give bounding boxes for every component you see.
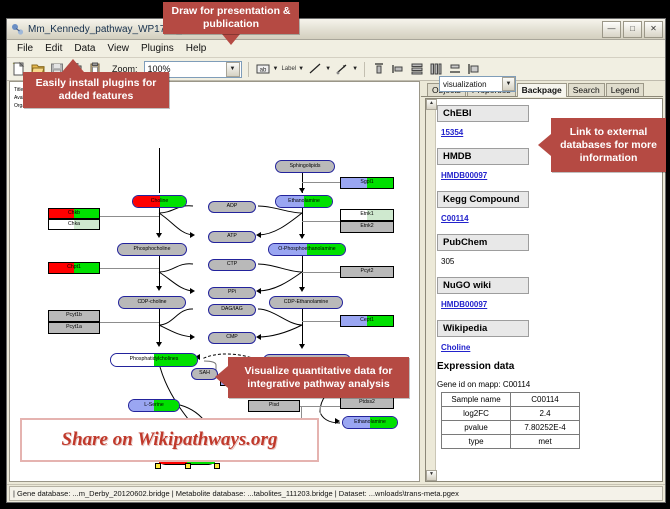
- node-label: CDP-choline: [137, 300, 166, 305]
- edge-arrow: [256, 232, 261, 238]
- db-section-wikipedia: Wikipedia Choline: [437, 318, 660, 355]
- node-cdp-ethanolamine[interactable]: CDP-Ethanolamine: [269, 296, 343, 309]
- backpage-scrollbar[interactable]: ▲ ▼: [426, 99, 436, 481]
- table-row: Sample name C00114: [442, 393, 580, 407]
- node-label: Ethanolamine: [354, 420, 386, 425]
- db-header-wikipedia: Wikipedia: [437, 320, 529, 337]
- expr-key: log2FC: [442, 407, 511, 421]
- db-section-kegg: Kegg Compound C00114: [437, 189, 660, 226]
- node-ctp[interactable]: CTP: [208, 259, 256, 271]
- pathvisio-icon: [11, 23, 24, 36]
- node-label: Etnk2: [360, 224, 373, 229]
- node-pisd[interactable]: Pisd: [248, 400, 300, 412]
- node-sgpl1[interactable]: Sgpl1: [340, 177, 394, 189]
- node-label: Pisd: [269, 403, 279, 408]
- scroll-up-icon[interactable]: ▲: [426, 99, 437, 110]
- align-top-icon[interactable]: [371, 61, 387, 77]
- node-label: Phosphatidylcholines: [130, 357, 179, 362]
- node-atp[interactable]: ATP: [208, 231, 256, 243]
- node-label: CMP: [226, 335, 238, 340]
- menu-file[interactable]: File: [11, 42, 39, 55]
- node-label: ADP: [227, 204, 238, 209]
- node-sah[interactable]: SAH: [191, 368, 218, 380]
- edge-arrow: [190, 334, 195, 340]
- edge-arrow: [190, 232, 195, 238]
- node-label: Chka: [68, 222, 80, 227]
- node-ethanolamine-bottom[interactable]: Ethanolamine: [342, 416, 398, 429]
- db-link-kegg[interactable]: C00114: [441, 214, 469, 223]
- node-label: SAH: [199, 371, 210, 376]
- maximize-button[interactable]: □: [623, 21, 642, 38]
- tab-legend[interactable]: Legend: [606, 83, 644, 96]
- edge-arrow: [256, 334, 261, 340]
- node-l-serine-left[interactable]: L-Serine: [128, 399, 180, 412]
- tab-search[interactable]: Search: [568, 83, 605, 96]
- callout-links-pointer: [538, 134, 551, 156]
- node-label: Choline: [151, 199, 169, 204]
- node-label: Pcyt2: [361, 269, 374, 274]
- align-rows-icon[interactable]: [409, 61, 425, 77]
- db-header-hmdb: HMDB: [437, 148, 529, 165]
- node-label: L-Serine: [144, 403, 164, 408]
- align-columns-icon[interactable]: [428, 61, 444, 77]
- selection-handle[interactable]: [155, 463, 161, 469]
- node-cmp[interactable]: CMP: [208, 332, 256, 344]
- node-label: Pcyt1a: [66, 325, 82, 330]
- catalysis-line: [302, 321, 340, 322]
- selection-handle[interactable]: [185, 463, 191, 469]
- node-label: Sgpl1: [360, 180, 373, 185]
- db-link-chebi[interactable]: 15354: [441, 128, 463, 137]
- line-dropdown-icon[interactable]: ▼: [325, 66, 331, 72]
- node-ptdss2[interactable]: Ptdss2: [340, 397, 394, 409]
- expr-key: pvalue: [442, 421, 511, 435]
- toolbar-separator: [248, 62, 249, 77]
- status-bar: | Gene database: ...m_Derby_20120602.bri…: [7, 484, 665, 502]
- node-label: Pcyt1b: [66, 313, 82, 318]
- selection-handle[interactable]: [214, 463, 220, 469]
- interaction-dropdown-icon[interactable]: ▼: [352, 66, 358, 72]
- node-label: O-Phosphoethanolamine: [278, 247, 335, 252]
- db-header-chebi: ChEBI: [437, 105, 529, 122]
- expr-value: 2.4: [511, 407, 580, 421]
- node-label: Phosphocholine: [134, 247, 171, 252]
- db-header-kegg: Kegg Compound: [437, 191, 529, 208]
- interaction-icon[interactable]: [334, 61, 350, 77]
- chevron-down-icon[interactable]: ▼: [502, 77, 515, 91]
- menu-bar: File Edit Data View Plugins Help: [7, 40, 665, 58]
- expr-key: Sample name: [442, 393, 511, 407]
- node-chka[interactable]: Chka: [48, 219, 100, 230]
- node-label: CTP: [227, 262, 237, 267]
- node-pcyt2[interactable]: Pcyt2: [340, 266, 394, 278]
- node-dagdag[interactable]: DAG/IAG: [208, 304, 256, 316]
- node-label: Cept1: [360, 318, 374, 323]
- node-label: Ethanolamine: [288, 199, 320, 204]
- visualization-value: visualization: [443, 80, 487, 89]
- catalysis-line: [302, 221, 340, 222]
- node-o-phosphoethanolamine[interactable]: O-Phosphoethanolamine: [268, 243, 346, 256]
- gene-id-line: Gene id on mapp: C00114: [437, 380, 660, 389]
- title-bar: Mm_Kennedy_pathway_WP1771_45176.gpml — □…: [7, 19, 665, 40]
- callout-visualize-pointer: [215, 366, 228, 388]
- stack-left-icon[interactable]: [466, 61, 482, 77]
- toolbar-separator-2: [364, 62, 365, 77]
- node-ethanolamine-top[interactable]: Ethanolamine: [275, 195, 333, 208]
- datanode-dropdown-icon[interactable]: ▼: [273, 66, 279, 72]
- node-etnk2[interactable]: Etnk2: [340, 221, 394, 233]
- node-label: Sphingolipids: [290, 164, 321, 169]
- banner-wikipathways: Share on Wikipathways.org: [20, 418, 319, 462]
- node-chpt1[interactable]: Chpt1: [48, 262, 100, 274]
- label-button[interactable]: Label: [281, 66, 296, 72]
- node-label: Ptdss2: [359, 400, 375, 405]
- minimize-button[interactable]: —: [602, 21, 621, 38]
- table-row: pvalue 7.80252E-4: [442, 421, 580, 435]
- node-pcyt1b[interactable]: Pcyt1b: [48, 310, 100, 322]
- node-sphingolipids[interactable]: Sphingolipids: [275, 160, 335, 173]
- expr-value: C00114: [511, 393, 580, 407]
- node-chkb[interactable]: Chkb: [48, 208, 100, 219]
- db-link-wikipedia[interactable]: Choline: [441, 343, 470, 352]
- line-icon[interactable]: [307, 61, 323, 77]
- node-ppi[interactable]: PPi: [208, 287, 256, 299]
- stack-center-icon[interactable]: [447, 61, 463, 77]
- expression-data-heading: Expression data: [437, 361, 660, 372]
- node-label: PPi: [228, 290, 236, 295]
- node-cept1[interactable]: Cept1: [340, 315, 394, 327]
- callout-plugins-pointer: [62, 59, 84, 72]
- node-phosphocholine[interactable]: Phosphocholine: [117, 243, 187, 256]
- expression-table: Sample name C00114 log2FC 2.4 pvalue 7.8…: [441, 392, 580, 449]
- node-cdp-choline[interactable]: CDP-choline: [118, 296, 186, 309]
- callout-draw: Draw for presentation & publication: [163, 2, 299, 34]
- catalysis-line: [100, 216, 159, 217]
- edge-arrow: [335, 418, 340, 424]
- db-header-nugo: NuGO wiki: [437, 277, 529, 294]
- screenshot-root: Mm_Kennedy_pathway_WP1771_45176.gpml — □…: [0, 0, 670, 509]
- edge-arrow: [190, 288, 195, 294]
- table-row: type met: [442, 435, 580, 449]
- callout-plugins: Easily install plugins for added feature…: [23, 72, 169, 108]
- banner-text: Share on Wikipathways.org: [62, 429, 278, 451]
- node-label: Chpt1: [67, 265, 81, 270]
- status-text: | Gene database: ...m_Derby_20120602.bri…: [9, 486, 663, 501]
- datanode-icon[interactable]: ab: [255, 61, 271, 77]
- callout-visualize: Visualize quantitative data for integrat…: [228, 357, 409, 398]
- callout-links: Link to external databases for more info…: [551, 118, 666, 172]
- db-section-nugo: NuGO wiki HMDB00097: [437, 275, 660, 312]
- node-label: Etnk1: [360, 212, 373, 217]
- node-label: CDP-Ethanolamine: [284, 300, 328, 305]
- catalysis-line: [100, 268, 159, 269]
- catalysis-line: [302, 182, 340, 183]
- label-dropdown-icon[interactable]: ▼: [298, 66, 304, 72]
- align-left-icon[interactable]: [390, 61, 406, 77]
- node-choline-top[interactable]: Choline: [132, 195, 187, 208]
- menu-edit[interactable]: Edit: [39, 42, 68, 55]
- scroll-down-icon[interactable]: ▼: [426, 470, 437, 481]
- db-header-pubchem: PubChem: [437, 234, 529, 251]
- menu-plugins[interactable]: Plugins: [135, 42, 180, 55]
- tab-backpage[interactable]: Backpage: [517, 83, 567, 97]
- expr-key: type: [442, 435, 511, 449]
- catalysis-line: [100, 322, 159, 323]
- db-link-hmdb[interactable]: HMDB00097: [441, 171, 487, 180]
- svg-text:ab: ab: [259, 68, 266, 74]
- node-label: Chkb: [68, 211, 80, 216]
- menu-view[interactable]: View: [101, 42, 135, 55]
- menu-data[interactable]: Data: [68, 42, 101, 55]
- node-adp[interactable]: ADP: [208, 201, 256, 213]
- db-value-pubchem: 305: [441, 257, 454, 266]
- callout-draw-pointer: [222, 34, 240, 45]
- node-label: ATP: [227, 234, 237, 239]
- expr-value: 7.80252E-4: [511, 421, 580, 435]
- visualization-combobox[interactable]: visualization ▼: [439, 76, 516, 92]
- expr-value: met: [511, 435, 580, 449]
- chevron-down-icon[interactable]: ▼: [226, 62, 240, 77]
- node-label: DAG/IAG: [221, 307, 243, 312]
- node-pcyt1a[interactable]: Pcyt1a: [48, 322, 100, 334]
- edge-arrow: [256, 288, 261, 294]
- menu-help[interactable]: Help: [180, 42, 213, 55]
- catalysis-line: [302, 272, 340, 273]
- window-controls: — □ ✕: [602, 21, 663, 38]
- close-button[interactable]: ✕: [644, 21, 663, 38]
- node-etnk1[interactable]: Etnk1: [340, 209, 394, 221]
- db-link-nugo[interactable]: HMDB00097: [441, 300, 487, 309]
- db-section-pubchem: PubChem 305: [437, 232, 660, 269]
- node-phosphatidylcholines[interactable]: Phosphatidylcholines: [110, 353, 198, 367]
- table-row: log2FC 2.4: [442, 407, 580, 421]
- catalysis-line: [320, 406, 321, 414]
